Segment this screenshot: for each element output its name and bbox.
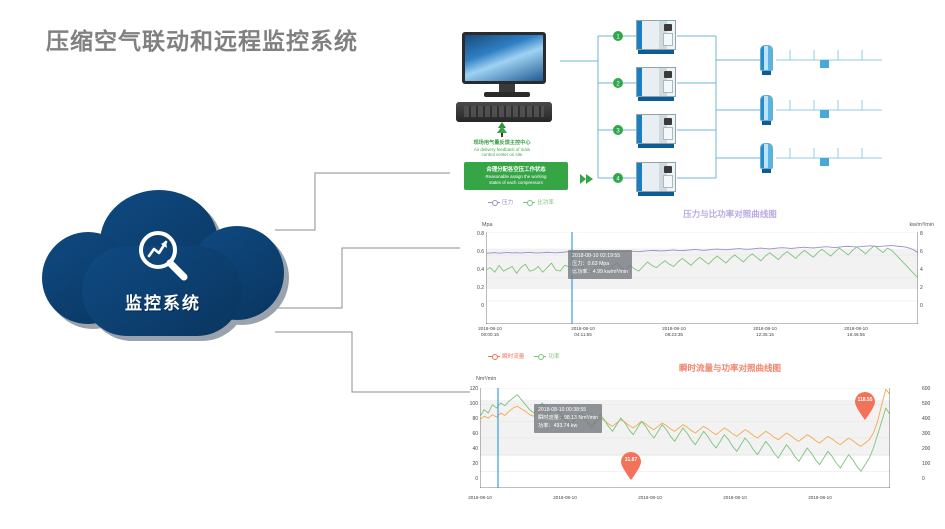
chart1-title: 压力与比功率对照曲线图 [520,208,940,220]
chart2-canvas[interactable] [480,388,890,488]
y-tick: 20 [462,461,478,467]
x-tick: 2018-08-10 [790,495,850,501]
chart1-y2-axis-unit: kw/m³/min [909,222,934,228]
y2-tick: 300 [922,431,938,437]
chart2-y-axis-unit: Nm³/min [476,376,496,382]
page-title: 压缩空气联动和远程监控系统 [46,22,358,56]
y-tick: 0.4 [468,267,484,273]
legend-item-flow[interactable]: 瞬时流量 [488,352,524,360]
y-tick: 120 [462,386,478,392]
air-tank[interactable] [760,95,773,125]
legend-label: 比功率 [537,198,554,206]
topology-links: 1 2 3 4 [440,18,940,198]
legend-marker-icon [488,356,500,357]
legend-label: 瞬时流量 [502,352,524,360]
chart1-plot[interactable]: Mpa kw/m³/min 0.8 0.6 0.4 0.2 0 8 6 4 2 … [440,222,940,334]
chart1-legend: 压力 比功率 [440,198,940,206]
x-tick: 2018-08-10 [535,495,595,501]
legend-label: 压力 [502,198,513,206]
y2-tick: 6 [920,249,936,255]
y-tick: 60 [462,431,478,437]
y2-tick: 2 [920,285,936,291]
legend-label: 功率 [548,352,559,360]
pressure-power-chart-panel: 压力 比功率 压力与比功率对照曲线图 Mpa kw/m³/min 0.8 0.6… [440,198,940,338]
y-tick: 100 [462,401,478,407]
node-indicators: 1 2 3 4 [613,31,623,183]
y2-tick: 0 [922,476,938,482]
y2-tick: 200 [922,446,938,452]
marker-value: 118.55 [854,397,876,403]
y-tick: 0.6 [468,249,484,255]
y2-tick: 4 [920,267,936,273]
y-tick: 0.8 [468,231,484,237]
compressor-unit[interactable] [636,114,676,148]
x-tick: 2018-08-10 [450,495,510,501]
magnifier-chart-icon [134,227,192,285]
y2-tick: 400 [922,416,938,422]
y2-tick: 8 [920,231,936,237]
y2-tick: 500 [922,401,938,407]
x-tick: 2018-08-1000:00:15 [460,326,520,338]
chart2-title: 瞬时流量与功率对照曲线图 [520,362,940,374]
legend-marker-icon [523,202,535,203]
marker-value: 31.87 [620,457,642,463]
topology-diagram-panel: 现场用气量反馈主控中心 Air delivery feedback of mai… [440,18,940,198]
flow-power-chart-panel: 瞬时流量 功率 瞬时流量与功率对照曲线图 Nm³/min 120 100 80 … [440,352,940,520]
legend-marker-icon [534,356,546,357]
legend-item-specific-power[interactable]: 比功率 [523,198,554,206]
y2-tick: 600 [922,386,938,392]
chart1-y-axis-unit: Mpa [482,222,493,228]
chart2-plot[interactable]: Nm³/min 120 100 80 60 40 20 0 600 500 40… [440,376,940,514]
chart1-canvas[interactable] [486,232,918,324]
y-tick: 0 [462,476,478,482]
air-tank[interactable] [760,45,773,75]
value-marker-pin[interactable]: 118.55 [854,392,876,420]
compressor-unit[interactable] [636,67,676,101]
y2-tick: 100 [922,461,938,467]
monitoring-system-cloud[interactable]: 监控系统 [42,190,284,336]
legend-marker-icon [488,202,500,203]
x-tick: 2018-08-10 [705,495,765,501]
legend-item-power[interactable]: 功率 [534,352,559,360]
x-tick: 2018-08-1008:23:35 [644,326,704,338]
y-tick: 80 [462,416,478,422]
legend-item-pressure[interactable]: 压力 [488,198,513,206]
value-marker-pin[interactable]: 31.87 [620,452,642,480]
x-tick: 2018-08-1004:11:55 [553,326,613,338]
x-tick: 2018-08-1012:35:15 [735,326,795,338]
compressor-unit[interactable] [636,20,676,54]
chart2-legend: 瞬时流量 功率 [440,352,940,360]
x-tick: 2018-08-1016:46:55 [826,326,886,338]
air-tank[interactable] [760,143,773,173]
x-tick: 2018-08-10 [620,495,680,501]
y-tick: 0.2 [468,285,484,291]
compressor-unit[interactable] [636,162,676,196]
y2-tick: 0 [920,303,936,309]
y-tick: 40 [462,446,478,452]
y-tick: 0 [468,303,484,309]
cloud-label: 监控系统 [125,289,201,314]
